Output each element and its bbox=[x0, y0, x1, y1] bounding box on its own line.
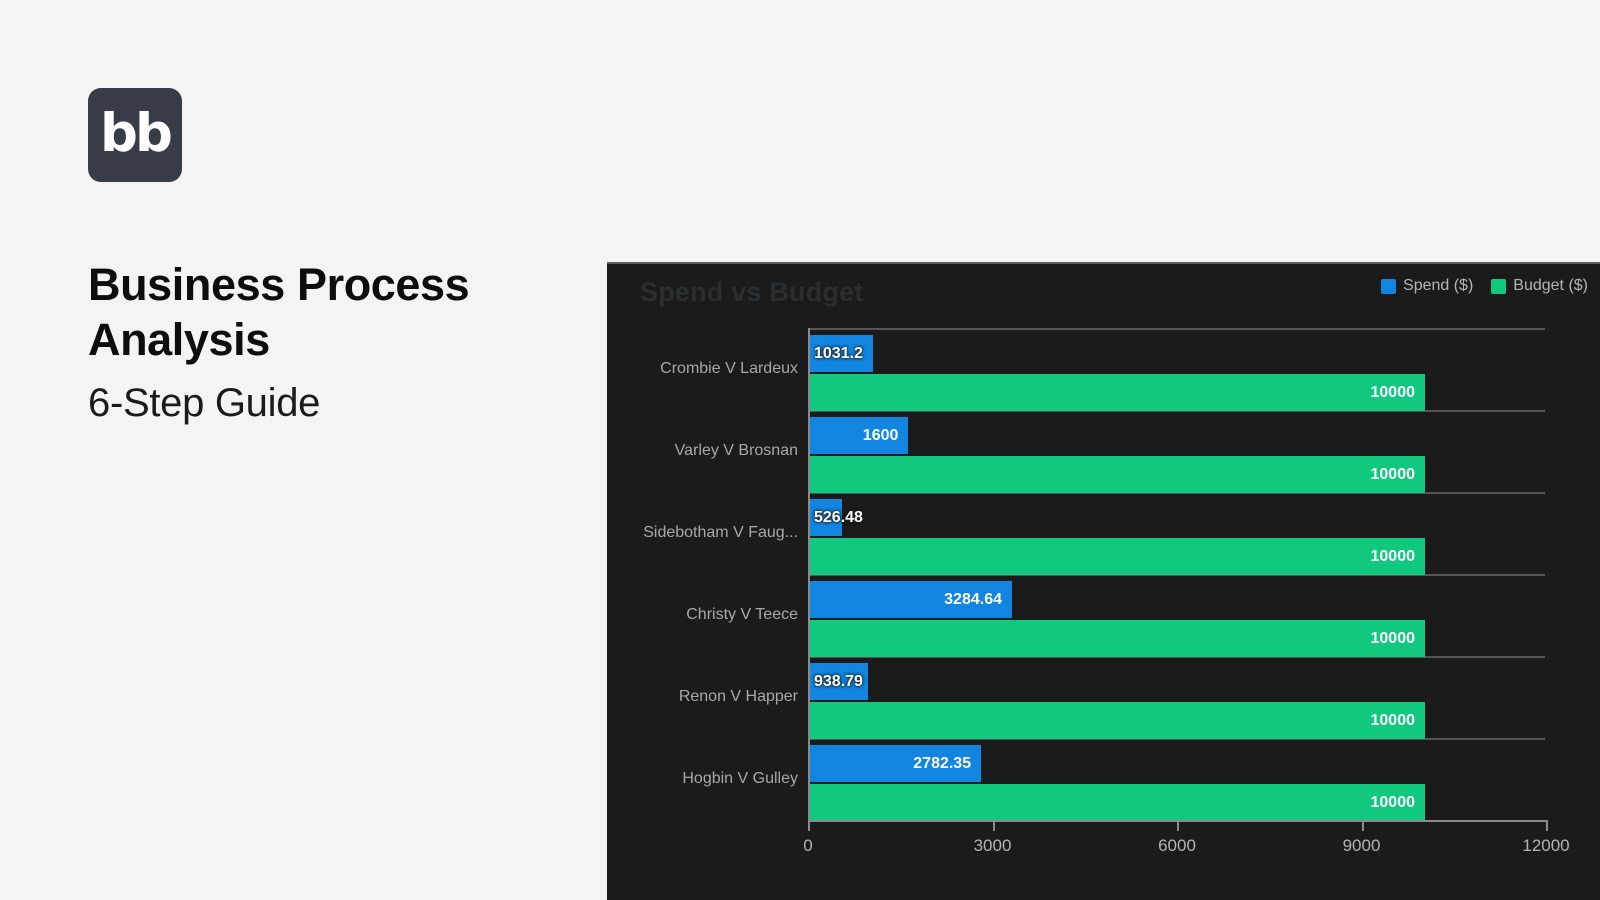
bar-budget[interactable]: 10000 bbox=[810, 620, 1425, 657]
page-subtitle: 6-Step Guide bbox=[88, 378, 558, 428]
bar-value-label: 10000 bbox=[1371, 712, 1426, 730]
chart-legend: Spend ($)Budget ($) bbox=[1381, 277, 1588, 295]
x-axis-tick-label: 9000 bbox=[1343, 836, 1381, 856]
left-content-panel: bb Business Process Analysis 6-Step Guid… bbox=[0, 0, 607, 900]
bar-spend[interactable]: 3284.64 bbox=[810, 581, 1012, 618]
x-axis-tick bbox=[808, 820, 810, 831]
x-axis-tick-label: 3000 bbox=[974, 836, 1012, 856]
x-axis-tick bbox=[1177, 820, 1179, 831]
grid-line bbox=[808, 328, 1545, 330]
bar-value-label: 10000 bbox=[1371, 794, 1426, 812]
bar-value-label: 10000 bbox=[1371, 630, 1426, 648]
bar-budget[interactable]: 10000 bbox=[810, 456, 1425, 493]
headline-block: Business Process Analysis 6-Step Guide bbox=[88, 258, 558, 428]
x-axis-tick-label: 0 bbox=[803, 836, 812, 856]
bar-value-label: 1031.2 bbox=[814, 345, 863, 363]
chart-title: Spend vs Budget bbox=[640, 277, 864, 308]
y-axis-label: Sidebotham V Faug... bbox=[643, 524, 798, 542]
legend-label: Spend ($) bbox=[1403, 277, 1473, 295]
plot-area: 1031.210000160010000526.48100003284.6410… bbox=[808, 328, 1546, 820]
bar-spend[interactable]: 1031.2 bbox=[810, 335, 873, 372]
legend-swatch-icon bbox=[1381, 279, 1396, 294]
y-axis-label: Crombie V Lardeux bbox=[660, 360, 798, 378]
bar-value-label: 10000 bbox=[1371, 466, 1426, 484]
bar-budget[interactable]: 10000 bbox=[810, 702, 1425, 739]
brand-logo: bb bbox=[88, 88, 182, 182]
y-axis-label: Christy V Teece bbox=[686, 606, 798, 624]
bar-value-label: 2782.35 bbox=[913, 755, 981, 773]
legend-label: Budget ($) bbox=[1513, 277, 1588, 295]
bar-budget[interactable]: 10000 bbox=[810, 784, 1425, 821]
bar-spend[interactable]: 526.48 bbox=[810, 499, 842, 536]
bar-value-label: 1600 bbox=[863, 427, 909, 445]
bar-value-label: 10000 bbox=[1371, 548, 1426, 566]
x-axis-tick-label: 12000 bbox=[1522, 836, 1569, 856]
bar-spend[interactable]: 1600 bbox=[810, 417, 908, 454]
bar-budget[interactable]: 10000 bbox=[810, 374, 1425, 411]
bar-spend[interactable]: 938.79 bbox=[810, 663, 868, 700]
bar-value-label: 938.79 bbox=[814, 673, 863, 691]
x-axis-tick-label: 6000 bbox=[1158, 836, 1196, 856]
bar-spend[interactable]: 2782.35 bbox=[810, 745, 981, 782]
x-axis-tick bbox=[993, 820, 995, 831]
chart-panel: Spend vs Budget Spend ($)Budget ($) 1031… bbox=[607, 262, 1600, 900]
legend-entry-1[interactable]: Budget ($) bbox=[1491, 277, 1588, 295]
page-title: Business Process Analysis bbox=[88, 258, 558, 368]
bar-value-label: 3284.64 bbox=[944, 591, 1012, 609]
legend-entry-0[interactable]: Spend ($) bbox=[1381, 277, 1473, 295]
y-axis-label: Varley V Brosnan bbox=[675, 442, 798, 460]
bar-budget[interactable]: 10000 bbox=[810, 538, 1425, 575]
bar-value-label: 10000 bbox=[1371, 384, 1426, 402]
x-axis-tick bbox=[1546, 820, 1548, 831]
legend-swatch-icon bbox=[1491, 279, 1506, 294]
y-axis-label: Hogbin V Gulley bbox=[682, 770, 798, 788]
brand-logo-text: bb bbox=[100, 107, 170, 160]
y-axis-label: Renon V Happer bbox=[679, 688, 798, 706]
x-axis-tick bbox=[1362, 820, 1364, 831]
bar-value-label: 526.48 bbox=[814, 509, 863, 527]
y-axis-line bbox=[808, 328, 810, 820]
